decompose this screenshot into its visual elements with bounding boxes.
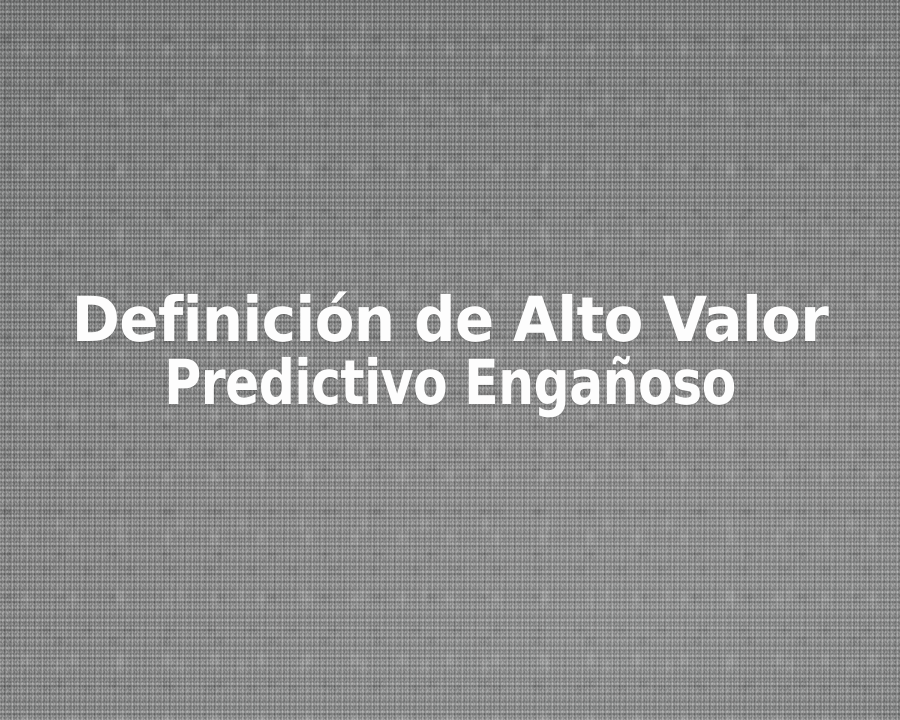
headline-line-2: Predictivo Engañoso	[83, 351, 817, 414]
poster-canvas: Definición de Alto Valor Predictivo Enga…	[0, 0, 900, 720]
headline-line-1: Definición de Alto Valor	[28, 288, 871, 351]
headline-block: Definición de Alto Valor Predictivo Enga…	[0, 288, 900, 414]
